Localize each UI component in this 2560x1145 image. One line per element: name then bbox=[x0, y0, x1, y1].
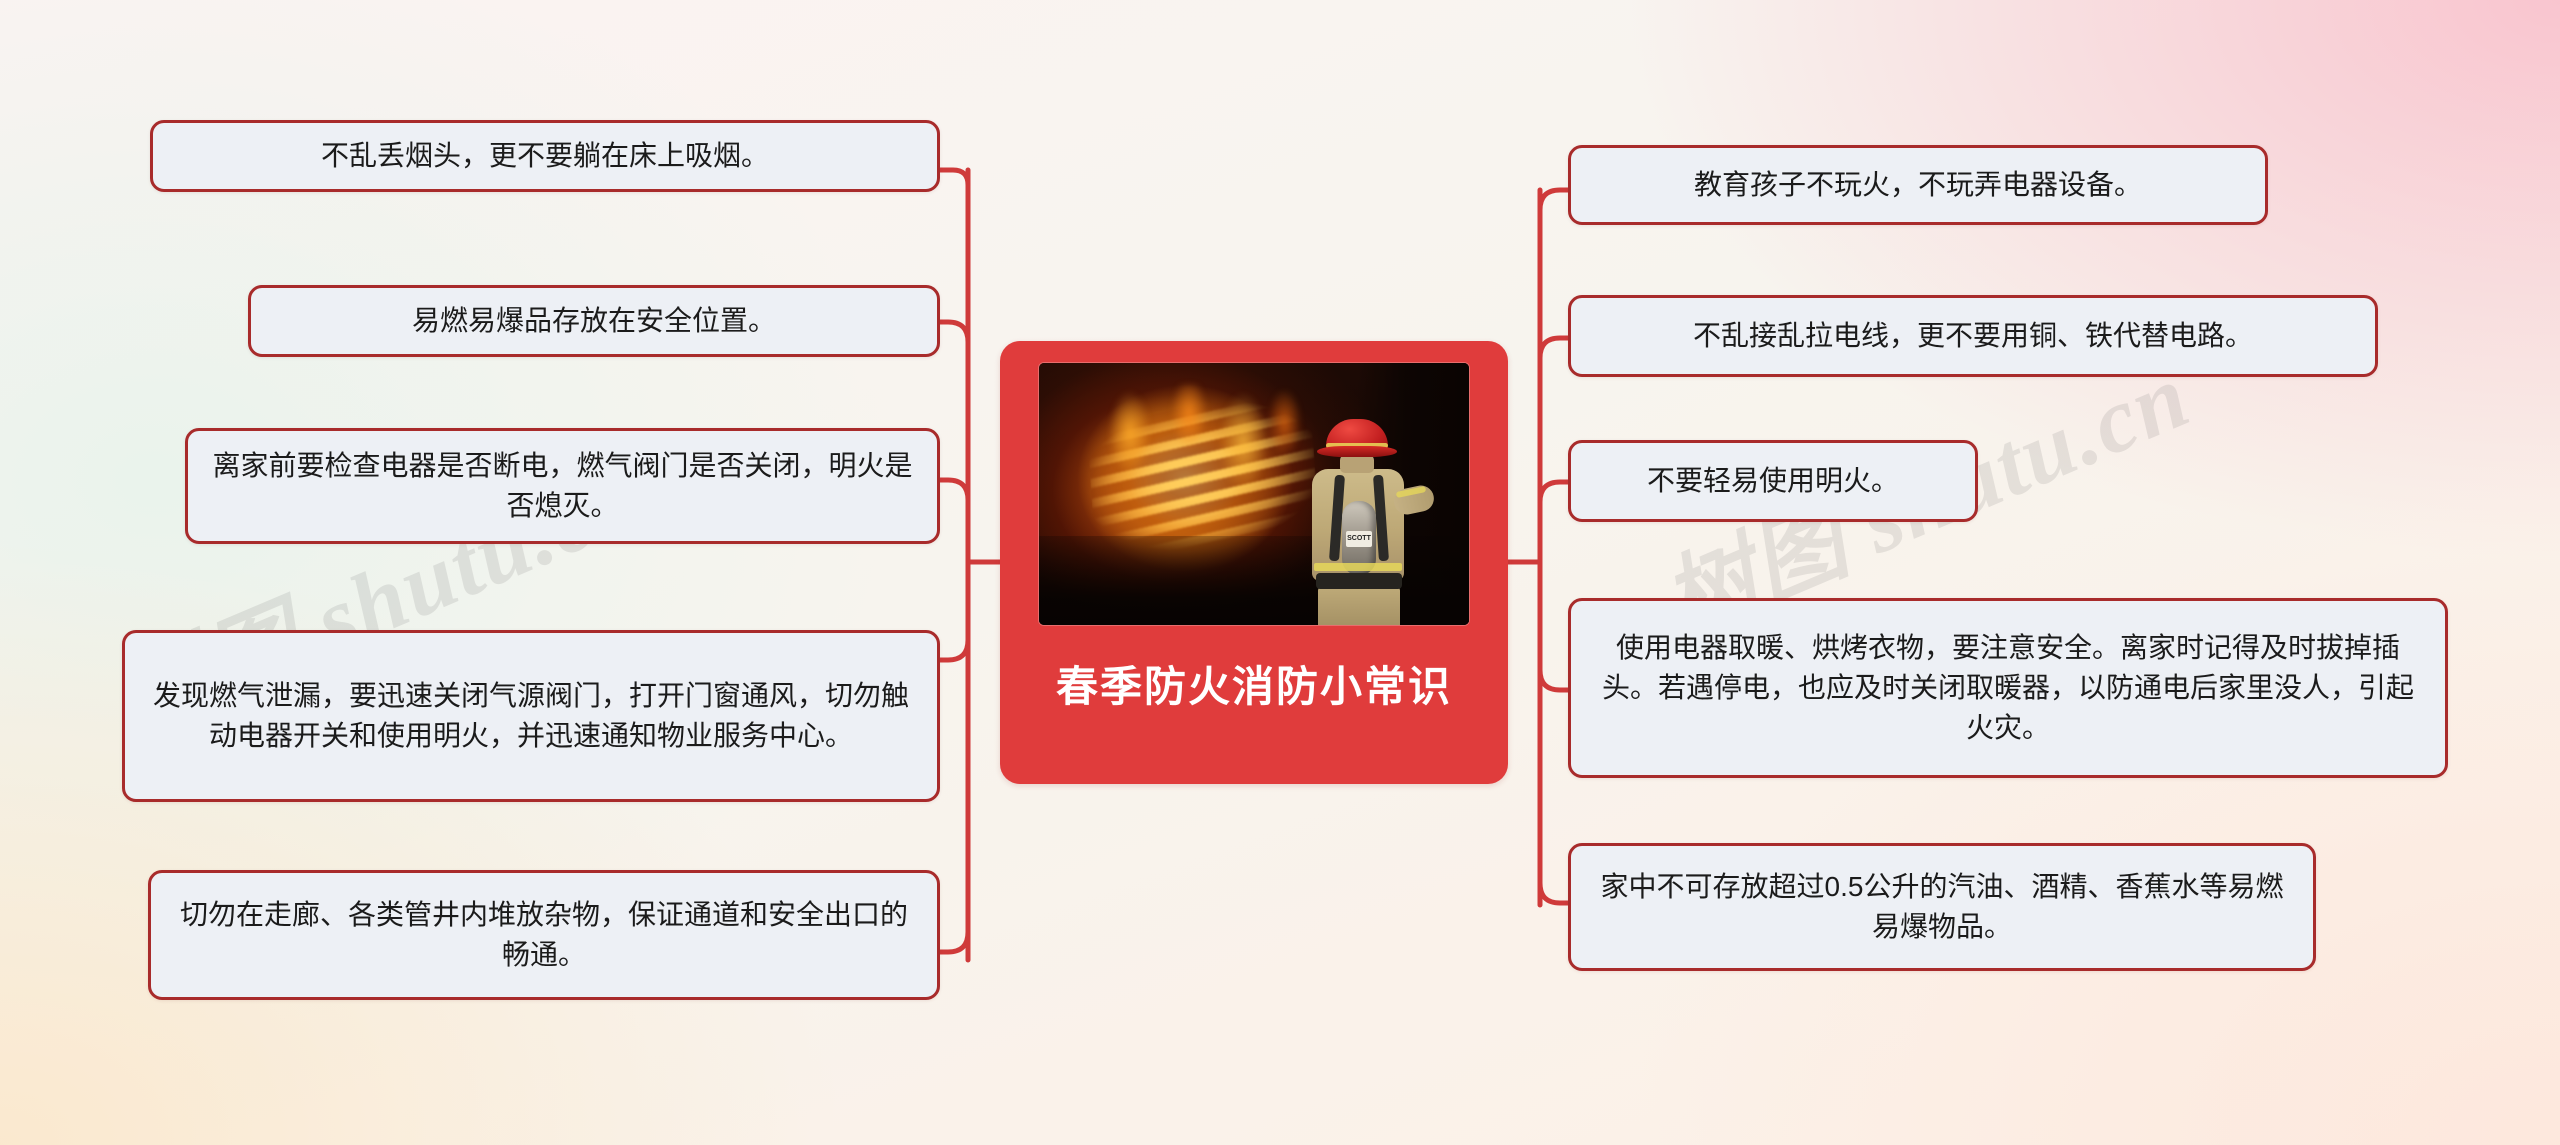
right-elbow-1 bbox=[1540, 190, 1568, 210]
central-image: SCOTT bbox=[1039, 363, 1469, 625]
branch-label: 不乱丢烟头，更不要躺在床上吸烟。 bbox=[175, 136, 915, 176]
branch-node-left-2[interactable]: 易燃易爆品存放在安全位置。 bbox=[248, 285, 940, 357]
branch-node-right-3[interactable]: 不要轻易使用明火。 bbox=[1568, 440, 1978, 522]
branch-label: 使用电器取暖、烘烤衣物，要注意安全。离家时记得及时拔掉插头。若遇停电，也应及时关… bbox=[1593, 628, 2423, 747]
left-elbow-4 bbox=[940, 640, 968, 660]
mindmap-canvas: 树图 shutu.cn 树图 shutu.cn bbox=[0, 0, 2560, 1145]
left-elbow-2 bbox=[940, 322, 968, 342]
firefighter-figure: SCOTT bbox=[1286, 413, 1426, 625]
branch-label: 离家前要检查电器是否断电，燃气阀门是否关闭，明火是否熄灭。 bbox=[210, 446, 915, 526]
central-node[interactable]: SCOTT 春季防火消防小常识 bbox=[1000, 341, 1508, 784]
firefighter-legs bbox=[1318, 585, 1400, 625]
branch-label: 易燃易爆品存放在安全位置。 bbox=[273, 301, 915, 341]
branch-label: 家中不可存放超过0.5公升的汽油、酒精、香蕉水等易燃易爆物品。 bbox=[1593, 867, 2291, 947]
right-elbow-3 bbox=[1540, 482, 1568, 502]
central-node-title: 春季防火消防小常识 bbox=[1056, 663, 1452, 711]
branch-label: 不乱接乱拉电线，更不要用铜、铁代替电路。 bbox=[1593, 316, 2353, 356]
firefighter-neck bbox=[1340, 455, 1374, 473]
air-tank-label: SCOTT bbox=[1346, 531, 1372, 547]
branch-node-left-5[interactable]: 切勿在走廊、各类管井内堆放杂物，保证通道和安全出口的畅通。 bbox=[148, 870, 940, 1000]
left-elbow-3 bbox=[940, 480, 968, 500]
left-elbow-5 bbox=[940, 932, 968, 952]
branch-label: 切勿在走廊、各类管井内堆放杂物，保证通道和安全出口的畅通。 bbox=[173, 895, 915, 975]
branch-node-right-5[interactable]: 家中不可存放超过0.5公升的汽油、酒精、香蕉水等易燃易爆物品。 bbox=[1568, 843, 2316, 971]
firefighter-belt bbox=[1316, 573, 1402, 589]
helmet-brim bbox=[1317, 446, 1397, 457]
right-elbow-2 bbox=[1540, 338, 1568, 358]
branch-node-right-4[interactable]: 使用电器取暖、烘烤衣物，要注意安全。离家时记得及时拔掉插头。若遇停电，也应及时关… bbox=[1568, 598, 2448, 778]
branch-node-right-2[interactable]: 不乱接乱拉电线，更不要用铜、铁代替电路。 bbox=[1568, 295, 2378, 377]
left-elbow-1 bbox=[950, 170, 968, 185]
branch-label: 发现燃气泄漏，要迅速关闭气源阀门，打开门窗通风，切勿触动电器开关和使用明火，并迅… bbox=[147, 676, 915, 756]
reflective-stripe bbox=[1314, 563, 1402, 571]
branch-node-left-4[interactable]: 发现燃气泄漏，要迅速关闭气源阀门，打开门窗通风，切勿触动电器开关和使用明火，并迅… bbox=[122, 630, 940, 802]
branch-node-left-3[interactable]: 离家前要检查电器是否断电，燃气阀门是否关闭，明火是否熄灭。 bbox=[185, 428, 940, 544]
right-elbow-4 bbox=[1540, 670, 1568, 690]
right-elbow-5 bbox=[1540, 883, 1568, 903]
branch-label: 不要轻易使用明火。 bbox=[1593, 461, 1953, 501]
branch-node-right-1[interactable]: 教育孩子不玩火，不玩弄电器设备。 bbox=[1568, 145, 2268, 225]
branch-label: 教育孩子不玩火，不玩弄电器设备。 bbox=[1593, 165, 2243, 205]
branch-node-left-1[interactable]: 不乱丢烟头，更不要躺在床上吸烟。 bbox=[150, 120, 940, 192]
